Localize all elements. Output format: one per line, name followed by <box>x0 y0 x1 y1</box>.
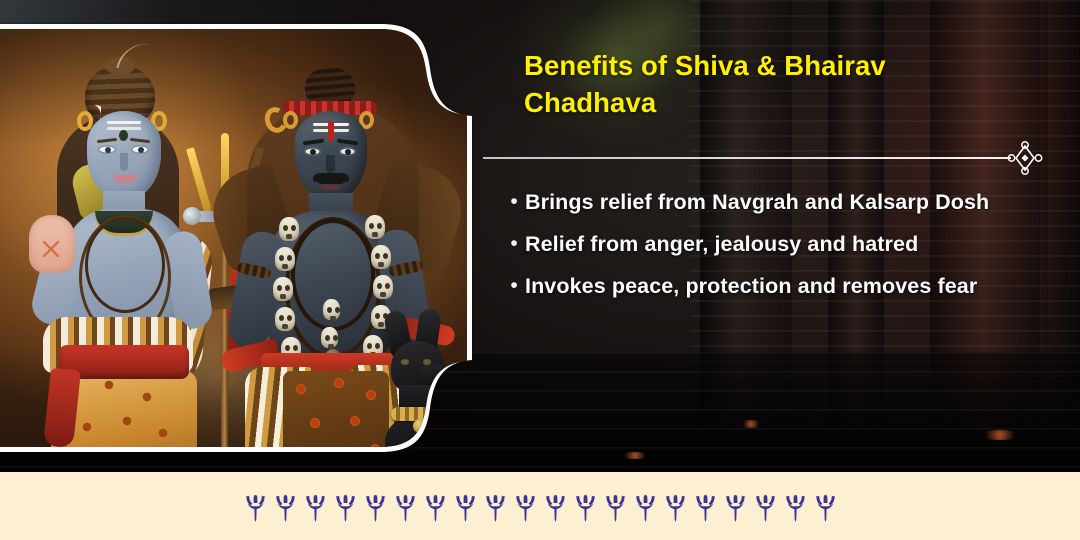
bullet-marker: • <box>503 182 525 222</box>
trishul-icon <box>603 489 628 523</box>
bullet-text: Relief from anger, jealousy and hatred <box>525 224 918 264</box>
skull-icon <box>321 327 338 348</box>
skull-icon <box>323 299 340 320</box>
list-item: • Relief from anger, jealousy and hatred <box>503 224 1063 264</box>
third-eye-icon <box>119 130 128 141</box>
trishul-icon <box>783 489 808 523</box>
trishul-icon <box>633 489 658 523</box>
bullet-text: Invokes peace, protection and removes fe… <box>525 266 977 306</box>
trishul-icon <box>573 489 598 523</box>
trishul-icon <box>543 489 568 523</box>
skull-icon <box>275 247 295 271</box>
bullet-marker: • <box>503 266 525 306</box>
trishul-pattern-row <box>243 489 838 523</box>
trishul-icon <box>423 489 448 523</box>
trishul-icon <box>453 489 478 523</box>
bullet-marker: • <box>503 224 525 264</box>
trishul-icon <box>273 489 298 523</box>
trishul-icon <box>333 489 358 523</box>
content-panel: Benefits of Shiva & Bhairav Chadhava • B… <box>483 0 1080 472</box>
benefits-banner: Benefits of Shiva & Bhairav Chadhava • B… <box>0 0 1080 540</box>
diamond-knot-ornament-icon <box>1003 141 1047 175</box>
footer-strip <box>0 472 1080 540</box>
trishul-icon <box>393 489 418 523</box>
divider <box>483 141 1080 175</box>
trishul-icon <box>693 489 718 523</box>
benefits-list: • Brings relief from Navgrah and Kalsarp… <box>503 182 1063 308</box>
skull-icon <box>371 245 391 269</box>
skull-icon <box>279 217 299 241</box>
list-item: • Brings relief from Navgrah and Kalsarp… <box>503 182 1063 222</box>
blessing-palm <box>29 215 75 273</box>
black-dog-figure <box>365 315 467 447</box>
skull-icon <box>365 215 385 239</box>
trishul-icon <box>753 489 778 523</box>
shiva-figure <box>23 59 233 447</box>
deity-artwork <box>0 29 467 447</box>
trishul-icon <box>243 489 268 523</box>
page-title: Benefits of Shiva & Bhairav Chadhava <box>524 48 994 121</box>
trishul-icon <box>663 489 688 523</box>
skull-icon <box>373 275 393 299</box>
trishul-icon <box>813 489 838 523</box>
list-item: • Invokes peace, protection and removes … <box>503 266 1063 306</box>
trishul-icon <box>363 489 388 523</box>
skull-icon <box>273 277 293 301</box>
divider-line <box>483 157 1011 159</box>
trishul-icon <box>723 489 748 523</box>
trishul-icon <box>483 489 508 523</box>
bullet-text: Brings relief from Navgrah and Kalsarp D… <box>525 182 989 222</box>
skull-icon <box>275 307 295 331</box>
trishul-icon <box>513 489 538 523</box>
deity-image-card <box>0 24 472 452</box>
trishul-icon <box>303 489 328 523</box>
